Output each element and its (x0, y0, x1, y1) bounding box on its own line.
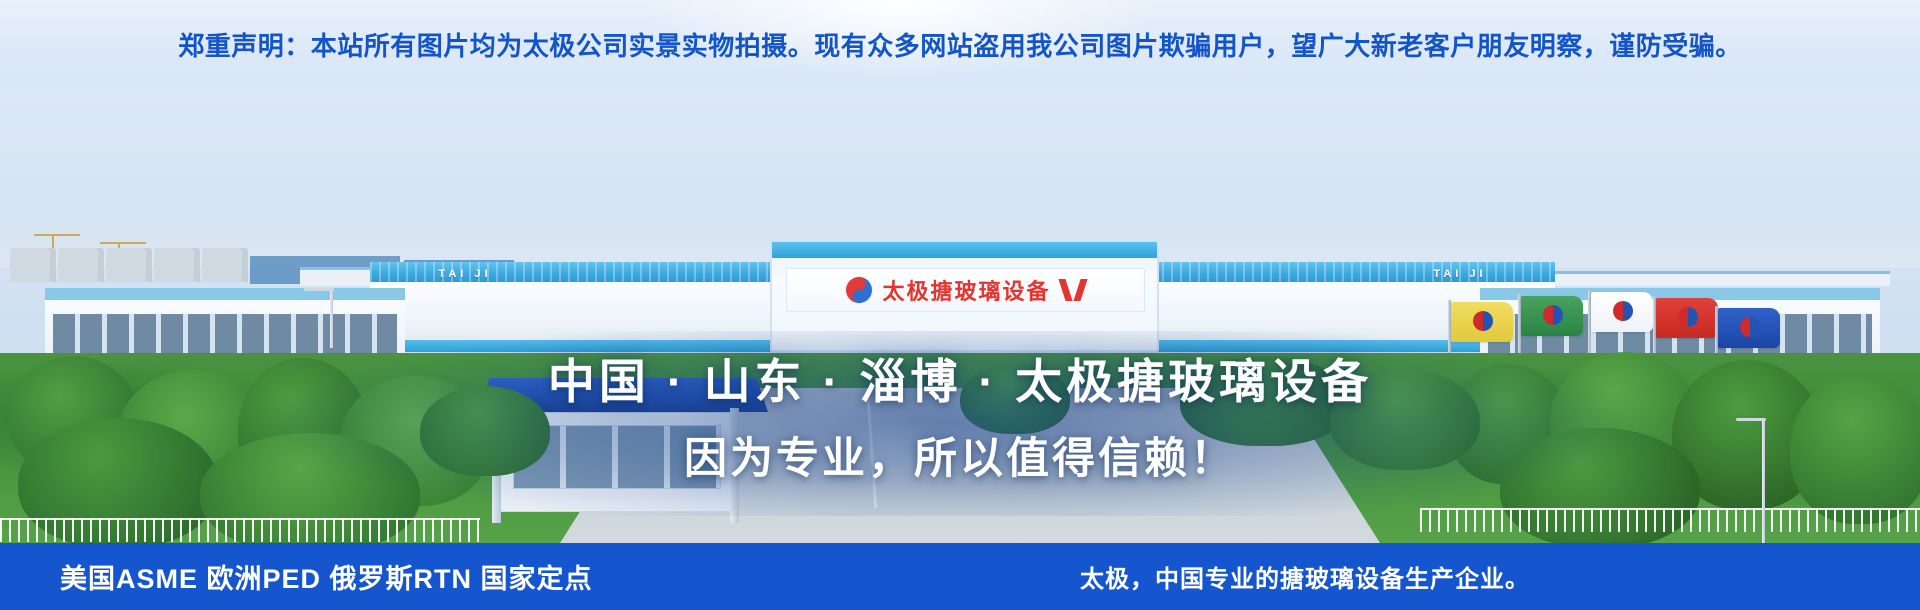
street-lamp (1762, 418, 1765, 543)
banner-stage: 郑重声明：本站所有图片均为太极公司实景实物拍摄。现有众多网站盗用我公司图片欺骗用… (0, 0, 1920, 610)
notice-bar: 郑重声明：本站所有图片均为太极公司实景实物拍摄。现有众多网站盗用我公司图片欺骗用… (0, 0, 1920, 88)
flag-blue (1718, 308, 1780, 348)
flag-green (1521, 296, 1583, 336)
company-slogan: 太极，中国专业的搪玻璃设备生产企业。 (1080, 559, 1530, 594)
main-factory-building: TAI JI TAI JI 太极搪玻璃设备 (370, 240, 1555, 360)
building-center-block: 太极搪玻璃设备 (770, 240, 1159, 352)
company-signboard: 太极搪玻璃设备 (786, 268, 1145, 312)
taiji-yinyang-icon (846, 277, 872, 303)
left-wing-windows (53, 314, 397, 358)
roof-label-right: TAI JI (1405, 266, 1515, 282)
arrow-mark-icon (1061, 279, 1085, 301)
flag-red (1656, 298, 1718, 338)
tree (1790, 374, 1920, 524)
footer-bar: 美国ASME 欧洲PED 俄罗斯RTN 国家定点 太极，中国专业的搪玻璃设备生产… (0, 543, 1920, 610)
factory-photo: TAI JI TAI JI 太极搪玻璃设备 (0, 88, 1920, 543)
roof-label-left: TAI JI (410, 266, 520, 282)
tree (1180, 356, 1350, 446)
street-lamp (330, 288, 333, 348)
center-block-roof (772, 242, 1157, 258)
notice-text: 郑重声明：本站所有图片均为太极公司实景实物拍摄。现有众多网站盗用我公司图片欺骗用… (178, 26, 1742, 63)
tree (960, 364, 1070, 434)
flag-white (1591, 292, 1653, 332)
certifications-text: 美国ASME 欧洲PED 俄罗斯RTN 国家定点 (60, 557, 593, 596)
tree (420, 386, 550, 476)
tree (1330, 370, 1480, 470)
perimeter-fence-left (0, 518, 480, 542)
flag-yellow (1451, 302, 1513, 342)
signboard-text: 太极搪玻璃设备 (882, 274, 1050, 306)
perimeter-fence-right (1420, 508, 1920, 532)
